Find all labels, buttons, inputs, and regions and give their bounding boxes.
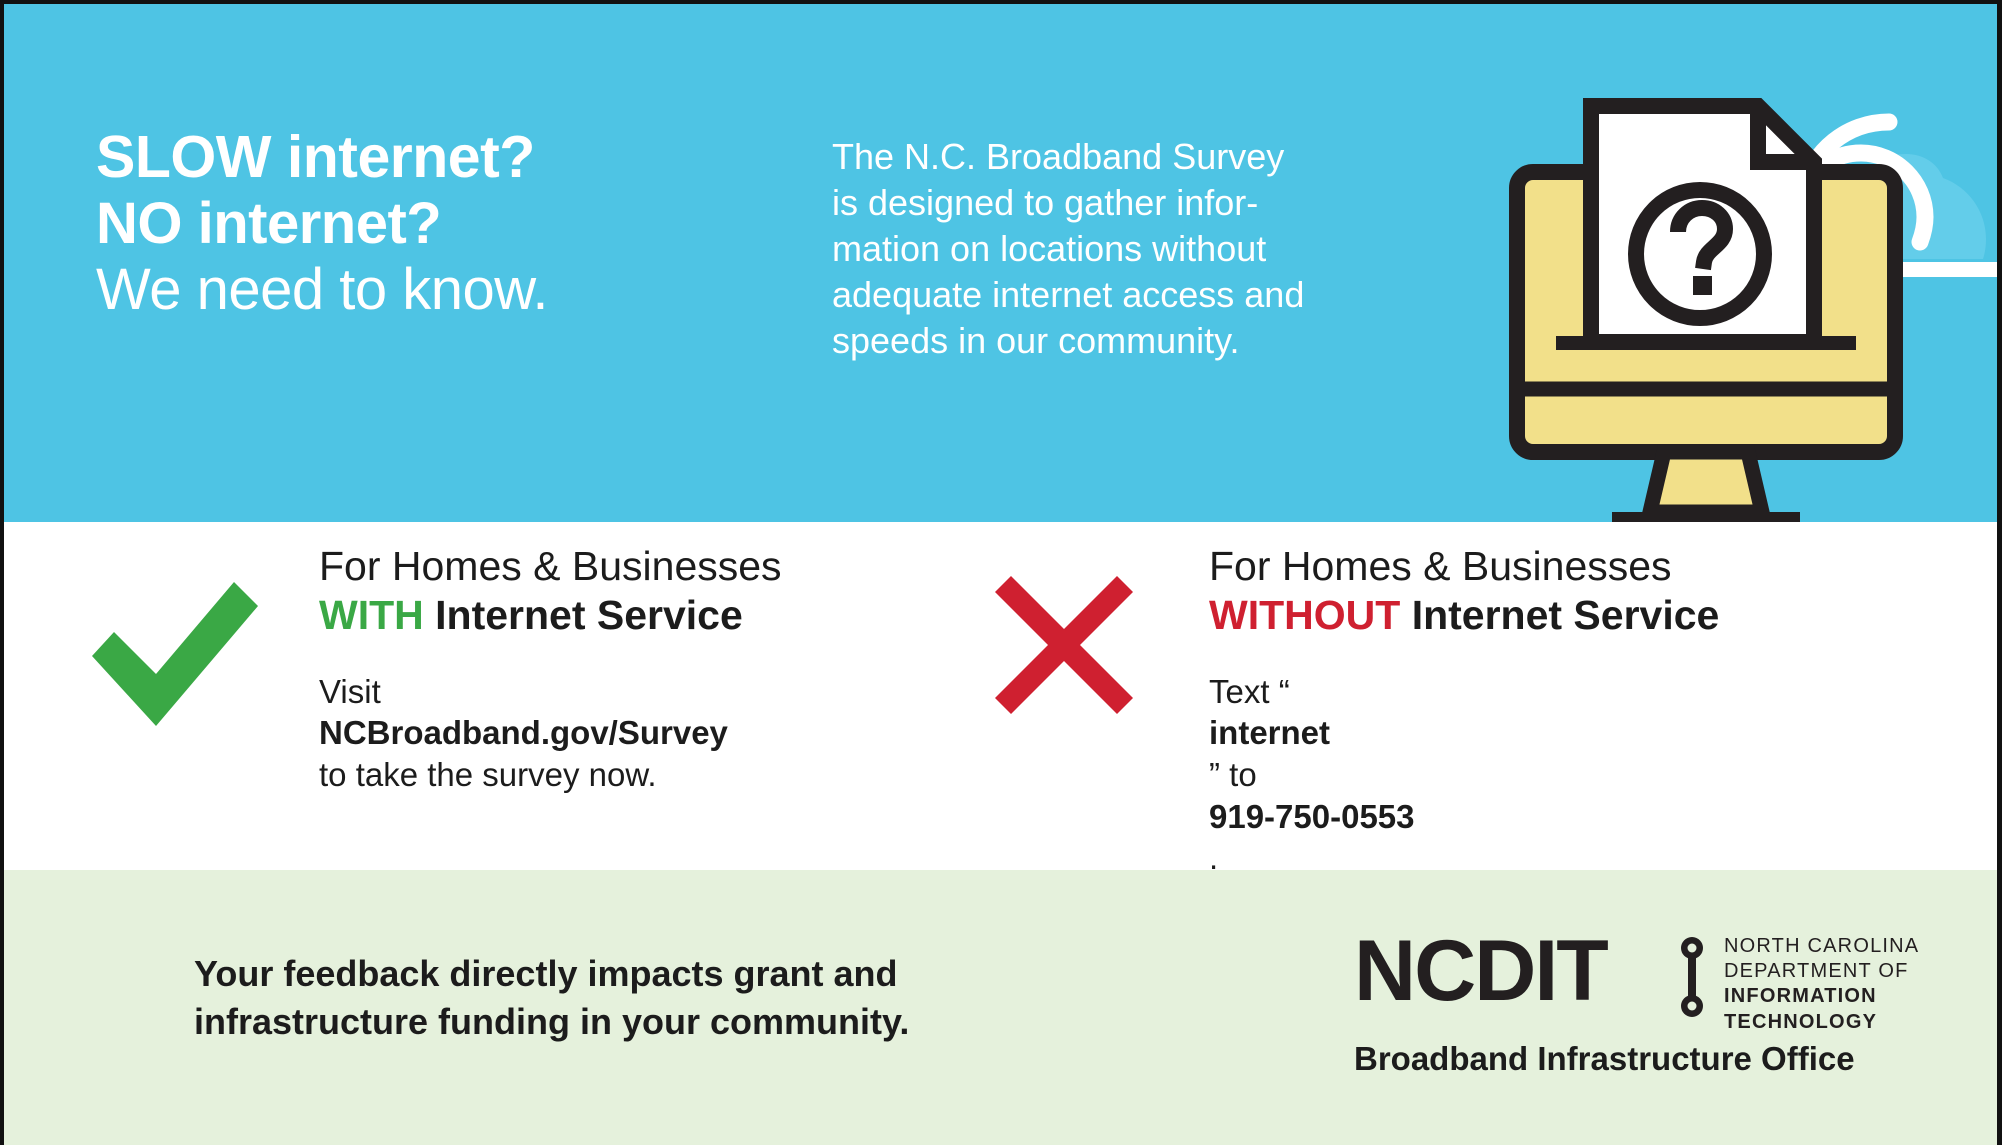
footer-message-line-1: Your feedback directly impacts grant and	[194, 950, 1094, 998]
without-service-column: For Homes & Businesses WITHOUT Internet …	[979, 522, 1989, 870]
hero-paragraph: The N.C. Broadband Survey is designed to…	[832, 134, 1457, 364]
hero-paragraph-line-4: adequate internet access and	[832, 272, 1457, 318]
without-service-head-line-2: WITHOUT Internet Service	[1209, 593, 1999, 639]
with-service-column: For Homes & Businesses WITH Internet Ser…	[64, 522, 994, 870]
hero-paragraph-line-2: is designed to gather infor-	[832, 180, 1457, 226]
headline-line-3: We need to know.	[96, 257, 736, 323]
middle-section: For Homes & Businesses WITH Internet Ser…	[4, 522, 1997, 870]
with-service-head-rest: Internet Service	[424, 592, 743, 638]
without-service-head-line-1: For Homes & Businesses	[1209, 544, 1999, 590]
document-icon	[1591, 106, 1814, 342]
without-service-head-rest: Internet Service	[1400, 592, 1719, 638]
with-service-head-line-1: For Homes & Businesses	[319, 544, 989, 590]
without-service-text: For Homes & Businesses WITHOUT Internet …	[1209, 544, 1999, 920]
hero-paragraph-line-1: The N.C. Broadband Survey	[832, 134, 1457, 180]
with-service-body-line-2: to take the survey now.	[319, 754, 989, 796]
with-service-body: Visit NCBroadband.gov/Survey to take the…	[319, 671, 989, 796]
check-icon	[84, 570, 264, 730]
ncdit-sub-line-3: INFORMATION	[1724, 984, 1919, 1009]
survey-url[interactable]: NCBroadband.gov/Survey	[319, 714, 728, 751]
poster: SLOW internet? NO internet? We need to k…	[0, 0, 2002, 1145]
ncdit-sub-line-4: TECHNOLOGY	[1724, 1010, 1919, 1035]
with-emphasis: WITH	[319, 592, 424, 638]
visit-prefix: Visit	[319, 671, 989, 713]
headline-line-1: SLOW internet?	[96, 124, 736, 191]
hero-section: SLOW internet? NO internet? We need to k…	[4, 4, 1997, 522]
survey-illustration	[1494, 84, 1997, 522]
hero-paragraph-line-3: mation on locations without	[832, 226, 1457, 272]
headline-line-2: NO internet?	[96, 191, 736, 257]
node-connector-icon	[1679, 934, 1705, 1020]
ncdit-subtitle: NORTH CAROLINA DEPARTMENT OF INFORMATION…	[1724, 934, 1919, 1035]
footer-section: Your feedback directly impacts grant and…	[4, 870, 1997, 1145]
ncdit-sub-line-2: DEPARTMENT OF	[1724, 959, 1919, 984]
ncdit-wordmark: NCDIT	[1354, 928, 1607, 1014]
text-keyword: internet	[1209, 714, 1330, 751]
without-service-body-line-1: Text “internet” to 919-750-0553.	[1209, 671, 1999, 879]
text-mid: ” to	[1209, 754, 1999, 796]
with-service-text: For Homes & Businesses WITH Internet Ser…	[319, 544, 989, 796]
x-icon	[989, 570, 1139, 720]
with-service-head-line-2: WITH Internet Service	[319, 593, 989, 639]
footer-message-line-2: infrastructure funding in your community…	[194, 998, 1094, 1046]
ncdit-logo: NCDIT NORTH CAROLINA DEPARTMENT OF INFOR…	[1344, 920, 1864, 1110]
ncdit-sub-line-1: NORTH CAROLINA	[1724, 934, 1919, 959]
footer-message: Your feedback directly impacts grant and…	[194, 950, 1094, 1046]
with-service-body-line-1: Visit NCBroadband.gov/Survey	[319, 671, 989, 754]
hero-paragraph-line-5: speeds in our community.	[832, 318, 1457, 364]
sms-phone-number[interactable]: 919-750-0553	[1209, 798, 1415, 835]
headline: SLOW internet? NO internet? We need to k…	[96, 124, 736, 323]
text-prefix: Text “	[1209, 671, 1999, 713]
ncdit-office-name: Broadband Infrastructure Office	[1354, 1040, 1855, 1078]
without-emphasis: WITHOUT	[1209, 592, 1400, 638]
